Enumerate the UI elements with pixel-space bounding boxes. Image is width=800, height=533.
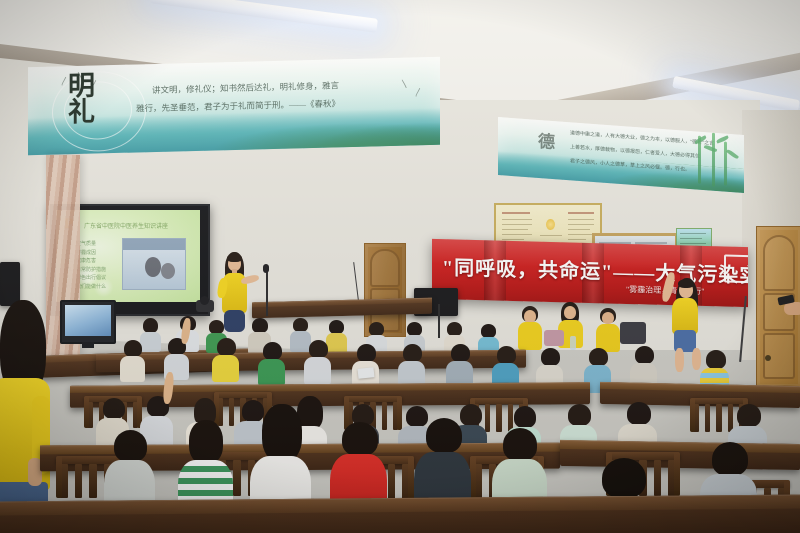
child-b6 xyxy=(352,344,380,386)
child-b3 xyxy=(212,338,240,380)
paper-hat xyxy=(358,367,375,379)
mural-left-line-1: 讲文明，修礼仪；知书然后达礼，明礼修身，雅言 xyxy=(152,79,339,96)
water-bottle xyxy=(570,336,576,350)
volunteer-back-1 xyxy=(516,306,546,352)
mural-left: 〳 〵 〳 〵 〳 明礼 讲文明，修礼仪；知书然后达礼，明礼修身，雅言 雅行，先… xyxy=(28,57,440,155)
child-b7 xyxy=(398,344,426,388)
classroom-photo: 〳 〵 〳 〵 〳 明礼 讲文明，修礼仪；知书然后达礼，明礼修身，雅言 雅行，先… xyxy=(0,0,800,533)
microphone-icon xyxy=(263,264,269,273)
microphone-stand xyxy=(266,270,268,316)
slide-image xyxy=(122,238,186,290)
child-b5 xyxy=(304,340,332,384)
volunteer-left-foreground xyxy=(0,300,56,533)
desk-front-edge xyxy=(0,495,800,533)
projector-lens-icon xyxy=(200,296,209,305)
speaker-stand xyxy=(438,304,440,338)
banner-seal-icon xyxy=(724,255,748,284)
child-b1 xyxy=(120,340,146,380)
hand-with-phone xyxy=(778,288,800,328)
desktop-monitor[interactable] xyxy=(60,300,116,344)
slide-title: 广东省中医院中医养生知识讲座 xyxy=(84,221,168,230)
child-b4 xyxy=(258,342,286,384)
mural-left-character: 明礼 xyxy=(68,73,102,126)
child-b8 xyxy=(446,344,474,388)
bag-1 xyxy=(544,330,564,346)
backpack xyxy=(620,322,646,344)
mural-right-character: 德 xyxy=(538,134,556,152)
